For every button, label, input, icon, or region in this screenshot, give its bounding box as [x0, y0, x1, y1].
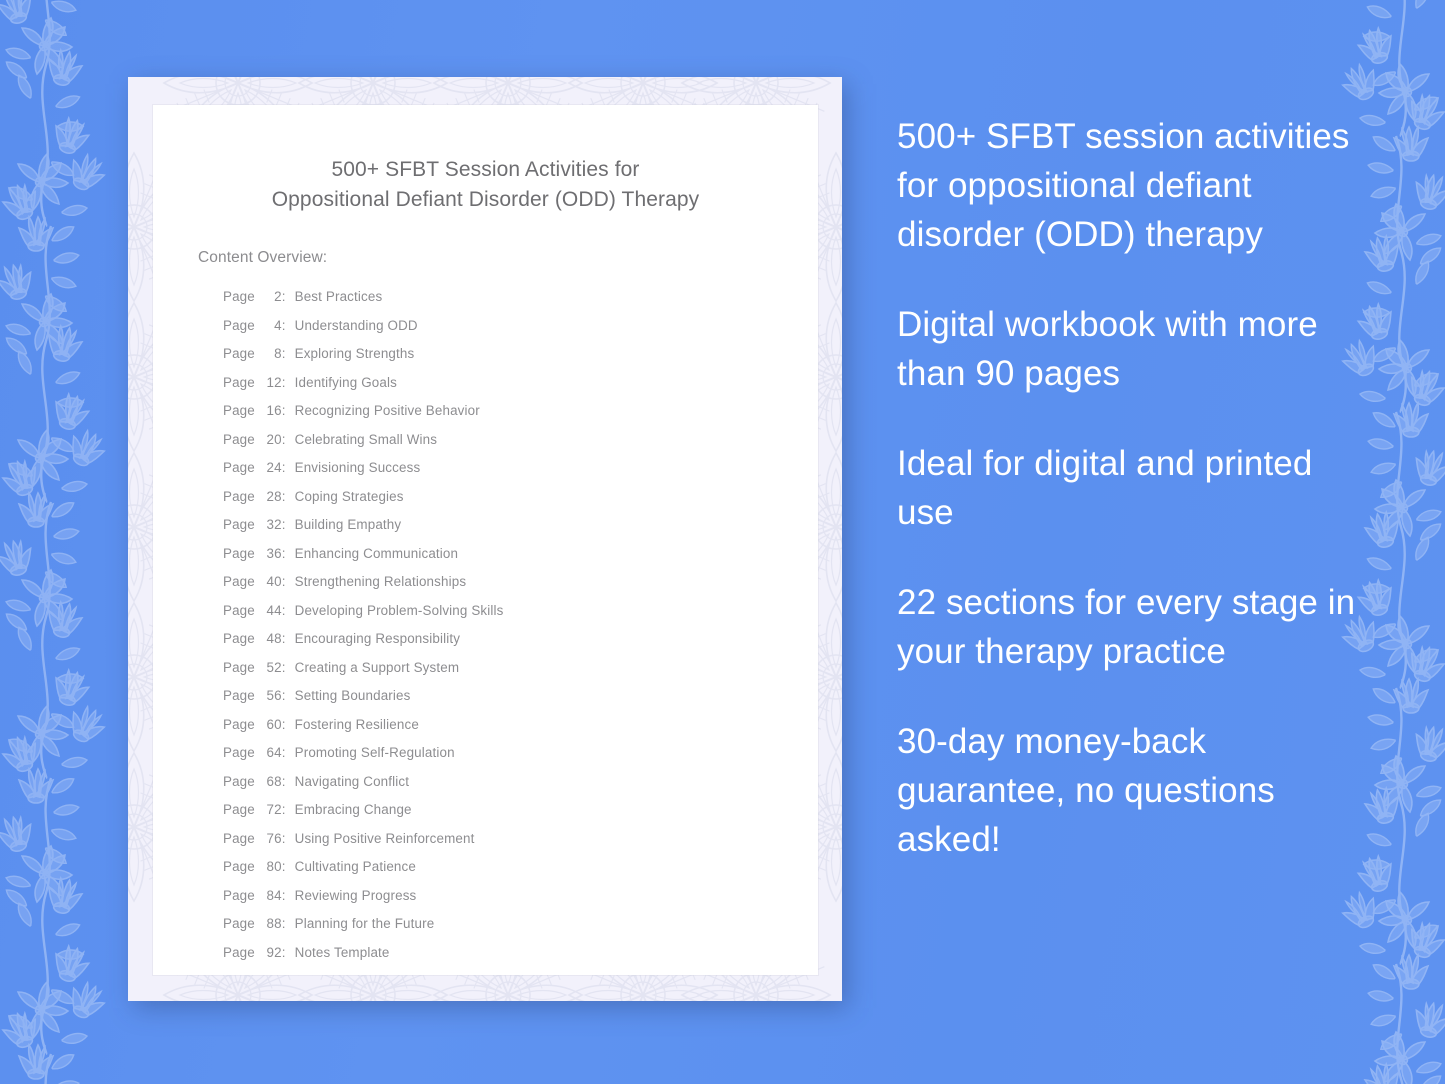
toc-entry-title: Building Empathy	[295, 518, 402, 531]
toc-entry: Page 52:Creating a Support System	[223, 653, 818, 682]
toc-page-word: Page	[223, 547, 259, 560]
toc-page-word: Page	[223, 518, 259, 531]
toc-page-number: 48	[259, 632, 282, 645]
toc-page-number: 80	[259, 860, 282, 873]
toc-page-word: Page	[223, 632, 259, 645]
toc-page-word: Page	[223, 290, 259, 303]
toc-page-number: 44	[259, 604, 282, 617]
toc-entry-title: Envisioning Success	[295, 461, 421, 474]
toc-entry-title: Developing Problem-Solving Skills	[295, 604, 504, 617]
toc-entry-title: Best Practices	[295, 290, 383, 303]
toc-page-number: 12	[259, 376, 282, 389]
toc-page-number: 28	[259, 490, 282, 503]
toc-page-number: 92	[259, 946, 282, 959]
toc-colon: :	[282, 290, 295, 303]
workbook-preview-card: 500+ SFBT Session Activities for Opposit…	[128, 77, 842, 1001]
toc-colon: :	[282, 319, 295, 332]
toc-entry: Page 84:Reviewing Progress	[223, 881, 818, 910]
marketing-bullet: Digital workbook with more than 90 pages	[897, 300, 1367, 398]
preview-page: 500+ SFBT Session Activities for Opposit…	[153, 105, 818, 975]
page-title-line-1: 500+ SFBT Session Activities for	[193, 155, 778, 185]
toc-entry-title: Celebrating Small Wins	[295, 433, 437, 446]
toc-page-number: 72	[259, 803, 282, 816]
toc-page-number: 32	[259, 518, 282, 531]
toc-page-number: 64	[259, 746, 282, 759]
marketing-bullet: 30-day money-back guarantee, no question…	[897, 717, 1367, 864]
toc-page-number: 52	[259, 661, 282, 674]
toc-page-word: Page	[223, 746, 259, 759]
toc-page-number: 76	[259, 832, 282, 845]
toc-page-number: 84	[259, 889, 282, 902]
toc-page-word: Page	[223, 575, 259, 588]
toc-entry: Page 24:Envisioning Success	[223, 454, 818, 483]
toc-entry-title: Embracing Change	[295, 803, 412, 816]
toc-page-number: 20	[259, 433, 282, 446]
toc-page-number: 8	[259, 347, 282, 360]
toc-page-number: 68	[259, 775, 282, 788]
toc-colon: :	[282, 404, 295, 417]
toc-page-word: Page	[223, 889, 259, 902]
toc-entry-title: Notes Template	[295, 946, 390, 959]
toc-page-number: 36	[259, 547, 282, 560]
toc-page-word: Page	[223, 490, 259, 503]
toc-page-number: 60	[259, 718, 282, 731]
toc-entry-title: Coping Strategies	[295, 490, 404, 503]
toc-page-word: Page	[223, 917, 259, 930]
toc-entry: Page 40:Strengthening Relationships	[223, 568, 818, 597]
toc-colon: :	[282, 490, 295, 503]
toc-entry: Page 72:Embracing Change	[223, 796, 818, 825]
toc-page-word: Page	[223, 461, 259, 474]
toc-entry: Page 32:Building Empathy	[223, 511, 818, 540]
marketing-bullet: Ideal for digital and printed use	[897, 439, 1367, 537]
toc-colon: :	[282, 376, 295, 389]
toc-entry: Page 44:Developing Problem-Solving Skill…	[223, 596, 818, 625]
toc-entry-title: Fostering Resilience	[295, 718, 419, 731]
toc-colon: :	[282, 347, 295, 360]
toc-entry-title: Setting Boundaries	[295, 689, 411, 702]
toc-colon: :	[282, 775, 295, 788]
toc-page-number: 4	[259, 319, 282, 332]
toc-page-word: Page	[223, 946, 259, 959]
toc-entry-title: Planning for the Future	[295, 917, 435, 930]
page-title-line-2: Oppositional Defiant Disorder (ODD) Ther…	[193, 185, 778, 215]
toc-colon: :	[282, 433, 295, 446]
toc-colon: :	[282, 946, 295, 959]
toc-page-word: Page	[223, 347, 259, 360]
toc-entry: Page 8:Exploring Strengths	[223, 340, 818, 369]
toc-entry: Page 76:Using Positive Reinforcement	[223, 824, 818, 853]
toc-colon: :	[282, 917, 295, 930]
toc-entry: Page 68:Navigating Conflict	[223, 767, 818, 796]
toc-entry: Page 20:Celebrating Small Wins	[223, 425, 818, 454]
toc-entry-title: Creating a Support System	[295, 661, 460, 674]
toc-page-word: Page	[223, 689, 259, 702]
toc-page-word: Page	[223, 433, 259, 446]
toc-colon: :	[282, 860, 295, 873]
toc-entry: Page 80:Cultivating Patience	[223, 853, 818, 882]
toc-entry-title: Using Positive Reinforcement	[295, 832, 475, 845]
toc-entry-title: Recognizing Positive Behavior	[295, 404, 480, 417]
toc-page-word: Page	[223, 376, 259, 389]
toc-page-word: Page	[223, 803, 259, 816]
toc-colon: :	[282, 518, 295, 531]
toc-colon: :	[282, 604, 295, 617]
toc-entry: Page 56:Setting Boundaries	[223, 682, 818, 711]
toc-colon: :	[282, 746, 295, 759]
toc-entry-title: Identifying Goals	[295, 376, 397, 389]
toc-entry: Page 64:Promoting Self-Regulation	[223, 739, 818, 768]
toc-colon: :	[282, 661, 295, 674]
table-of-contents: Page 2:Best PracticesPage 4:Understandin…	[153, 267, 818, 967]
toc-page-number: 40	[259, 575, 282, 588]
toc-entry-title: Enhancing Communication	[295, 547, 458, 560]
toc-entry: Page 28:Coping Strategies	[223, 482, 818, 511]
toc-colon: :	[282, 461, 295, 474]
toc-colon: :	[282, 889, 295, 902]
toc-entry-title: Exploring Strengths	[295, 347, 415, 360]
toc-page-number: 88	[259, 917, 282, 930]
product-listing-poster: 500+ SFBT Session Activities for Opposit…	[0, 0, 1445, 1084]
toc-entry: Page 4:Understanding ODD	[223, 311, 818, 340]
toc-page-word: Page	[223, 604, 259, 617]
toc-entry-title: Cultivating Patience	[295, 860, 416, 873]
toc-page-word: Page	[223, 319, 259, 332]
toc-colon: :	[282, 575, 295, 588]
toc-entry: Page 92:Notes Template	[223, 938, 818, 967]
toc-entry-title: Reviewing Progress	[295, 889, 417, 902]
marketing-bullet: 22 sections for every stage in your ther…	[897, 578, 1367, 676]
toc-page-number: 56	[259, 689, 282, 702]
page-title: 500+ SFBT Session Activities for Opposit…	[153, 105, 818, 215]
toc-entry-title: Understanding ODD	[295, 319, 418, 332]
toc-page-number: 24	[259, 461, 282, 474]
toc-colon: :	[282, 632, 295, 645]
floral-vine-ornament-left	[0, 0, 106, 1084]
toc-page-number: 16	[259, 404, 282, 417]
marketing-bullet: 500+ SFBT session activities for opposit…	[897, 112, 1367, 259]
toc-page-word: Page	[223, 860, 259, 873]
content-overview-label: Content Overview:	[153, 215, 818, 267]
toc-colon: :	[282, 547, 295, 560]
toc-entry-title: Encouraging Responsibility	[295, 632, 460, 645]
toc-colon: :	[282, 689, 295, 702]
toc-colon: :	[282, 803, 295, 816]
toc-entry: Page 2:Best Practices	[223, 283, 818, 312]
toc-page-word: Page	[223, 832, 259, 845]
toc-entry-title: Strengthening Relationships	[295, 575, 467, 588]
toc-page-word: Page	[223, 718, 259, 731]
toc-page-number: 2	[259, 290, 282, 303]
toc-entry: Page 16:Recognizing Positive Behavior	[223, 397, 818, 426]
toc-colon: :	[282, 718, 295, 731]
toc-page-word: Page	[223, 775, 259, 788]
toc-entry: Page 36:Enhancing Communication	[223, 539, 818, 568]
toc-page-word: Page	[223, 404, 259, 417]
marketing-bullet-list: 500+ SFBT session activities for opposit…	[897, 112, 1367, 864]
toc-entry-title: Navigating Conflict	[295, 775, 410, 788]
toc-page-word: Page	[223, 661, 259, 674]
toc-entry: Page 48:Encouraging Responsibility	[223, 625, 818, 654]
toc-entry: Page 12:Identifying Goals	[223, 368, 818, 397]
toc-entry-title: Promoting Self-Regulation	[295, 746, 455, 759]
toc-colon: :	[282, 832, 295, 845]
toc-entry: Page 88:Planning for the Future	[223, 910, 818, 939]
toc-entry: Page 60:Fostering Resilience	[223, 710, 818, 739]
